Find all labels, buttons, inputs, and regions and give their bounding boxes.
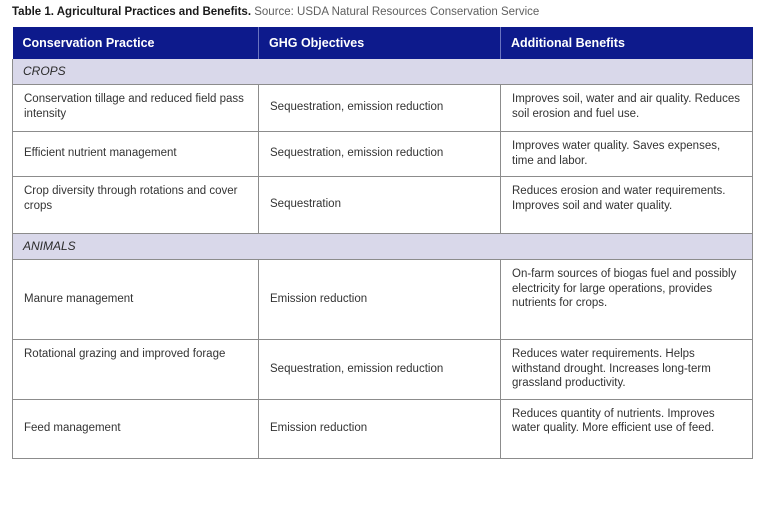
table-page: Table 1. Agricultural Practices and Bene…	[0, 0, 768, 505]
cell-benefit: Reduces erosion and water requirements. …	[501, 177, 753, 234]
cell-objective: Sequestration, emission reduction	[259, 85, 501, 132]
table-row: Feed management Emission reduction Reduc…	[13, 399, 753, 458]
section-label-crops: CROPS	[13, 59, 753, 85]
cell-practice: Rotational grazing and improved forage	[13, 340, 259, 400]
cell-objective: Emission reduction	[259, 260, 501, 340]
section-header-row-animals: ANIMALS	[13, 234, 753, 260]
caption-title: Table 1. Agricultural Practices and Bene…	[12, 6, 251, 18]
column-header-ghg-objectives: GHG Objectives	[259, 27, 501, 59]
cell-practice: Conservation tillage and reduced field p…	[13, 85, 259, 132]
cell-practice: Manure management	[13, 260, 259, 340]
cell-benefit: Improves soil, water and air quality. Re…	[501, 85, 753, 132]
table-row: Conservation tillage and reduced field p…	[13, 85, 753, 132]
cell-practice: Crop diversity through rotations and cov…	[13, 177, 259, 234]
table-container: Conservation Practice GHG Objectives Add…	[12, 27, 752, 459]
table-caption: Table 1. Agricultural Practices and Bene…	[12, 5, 539, 19]
cell-benefit: Improves water quality. Saves expenses, …	[501, 132, 753, 177]
table-row: Rotational grazing and improved forage S…	[13, 340, 753, 400]
table-body: CROPS Conservation tillage and reduced f…	[13, 59, 753, 458]
cell-objective: Emission reduction	[259, 399, 501, 458]
cell-objective: Sequestration, emission reduction	[259, 340, 501, 400]
cell-benefit: Reduces water requirements. Helps withst…	[501, 340, 753, 400]
column-header-conservation-practice: Conservation Practice	[13, 27, 259, 59]
cell-benefit: Reduces quantity of nutrients. Improves …	[501, 399, 753, 458]
table-header: Conservation Practice GHG Objectives Add…	[13, 27, 753, 59]
section-header-row-crops: CROPS	[13, 59, 753, 85]
table-header-row: Conservation Practice GHG Objectives Add…	[13, 27, 753, 59]
section-label-animals: ANIMALS	[13, 234, 753, 260]
table-row: Crop diversity through rotations and cov…	[13, 177, 753, 234]
agricultural-practices-table: Conservation Practice GHG Objectives Add…	[12, 27, 753, 459]
cell-benefit: On-farm sources of biogas fuel and possi…	[501, 260, 753, 340]
table-row: Manure management Emission reduction On-…	[13, 260, 753, 340]
cell-objective: Sequestration, emission reduction	[259, 132, 501, 177]
table-row: Efficient nutrient management Sequestrat…	[13, 132, 753, 177]
caption-source: Source: USDA Natural Resources Conservat…	[254, 6, 539, 18]
cell-practice: Efficient nutrient management	[13, 132, 259, 177]
cell-practice: Feed management	[13, 399, 259, 458]
cell-objective: Sequestration	[259, 177, 501, 234]
column-header-additional-benefits: Additional Benefits	[501, 27, 753, 59]
